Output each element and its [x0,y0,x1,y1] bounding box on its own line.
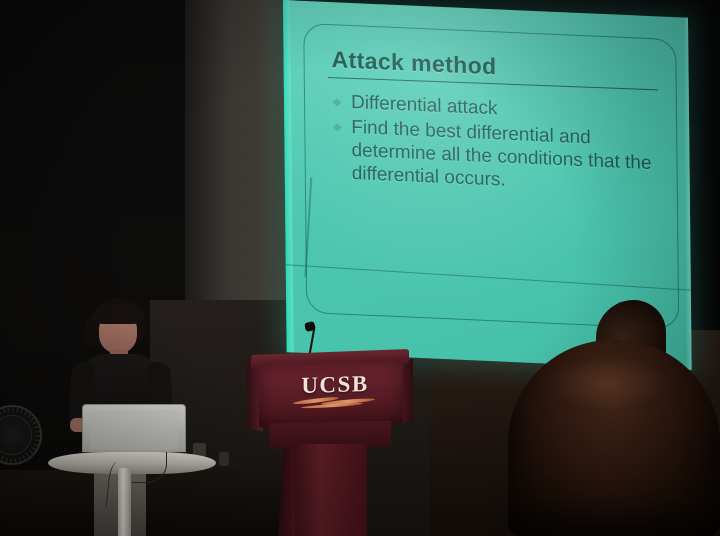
podium-column [295,444,367,536]
audience-head-foreground [508,340,720,536]
projection-screen: Attack method Differential attack Find t… [283,0,688,352]
slide-title: Attack method [331,46,658,87]
wall-seal-ring [0,407,40,463]
audience-hair-highlight [548,356,668,410]
presenter-fringe [92,304,144,324]
slide-bullet-item: Find the best differential and determine… [332,115,660,198]
slide-bullet-list: Differential attack Find the best differ… [332,90,660,198]
lectern-podium: UCSB [247,352,413,536]
laptop-screen-back [90,410,178,450]
podium-logo-text: UCSB [287,372,383,397]
podium-logo: UCSB [287,372,383,411]
presentation-photo-scene: Attack method Differential attack Find t… [0,0,720,536]
laptop-lid [82,404,186,456]
wall-outlet-plate-2 [219,452,229,466]
